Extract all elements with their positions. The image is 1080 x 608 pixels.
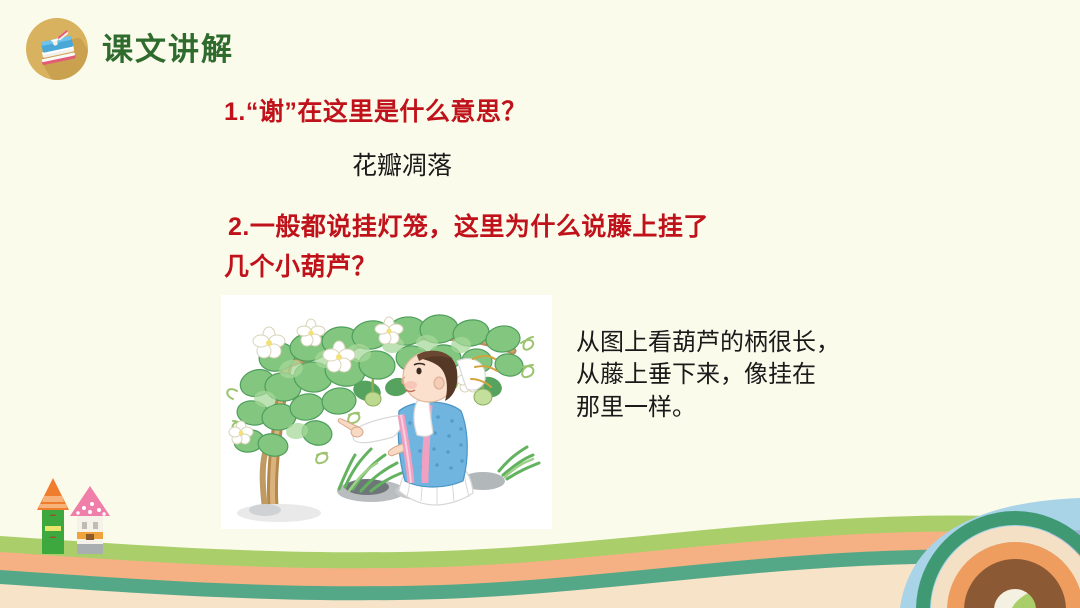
gourd-vine-artwork [221,295,552,529]
cartoon-houses [22,476,142,556]
answer-1-text: 花瓣凋落 [352,146,452,186]
answer-2-text: 从图上看葫芦的柄很长， 从藤上垂下来，像挂在 那里一样。 [576,327,886,424]
answer-2-line-2: 从藤上垂下来，像挂在 [576,359,886,391]
pink-roof-house [70,486,110,554]
green-tower-house [37,478,69,554]
page-title: 课文讲解 [102,34,234,65]
slide-header: 课文讲解 [26,18,234,80]
question-2-text: 2.一般都说挂灯笼，这里为什么说藤上挂了 几个小葫芦？ [228,207,788,287]
question-1-text: 1.“谢”在这里是什么意思？ [224,92,527,132]
question-2-line-1: 2.一般都说挂灯笼，这里为什么说藤上挂了 [228,213,709,241]
gourd-vine-illustration [221,295,552,529]
books-icon-glyph [26,18,88,80]
slide-canvas: 课文讲解 1.“谢”在这里是什么意思？ 花瓣凋落 2.一般都说挂灯笼，这里为什么… [0,0,1080,608]
answer-2-line-3: 那里一样。 [576,392,886,424]
question-2-line-2: 几个小葫芦？ [224,247,788,287]
answer-2-line-1: 从图上看葫芦的柄很长， [576,327,886,359]
stacked-books-icon [26,18,88,80]
rainbow-arcs [780,488,1080,608]
